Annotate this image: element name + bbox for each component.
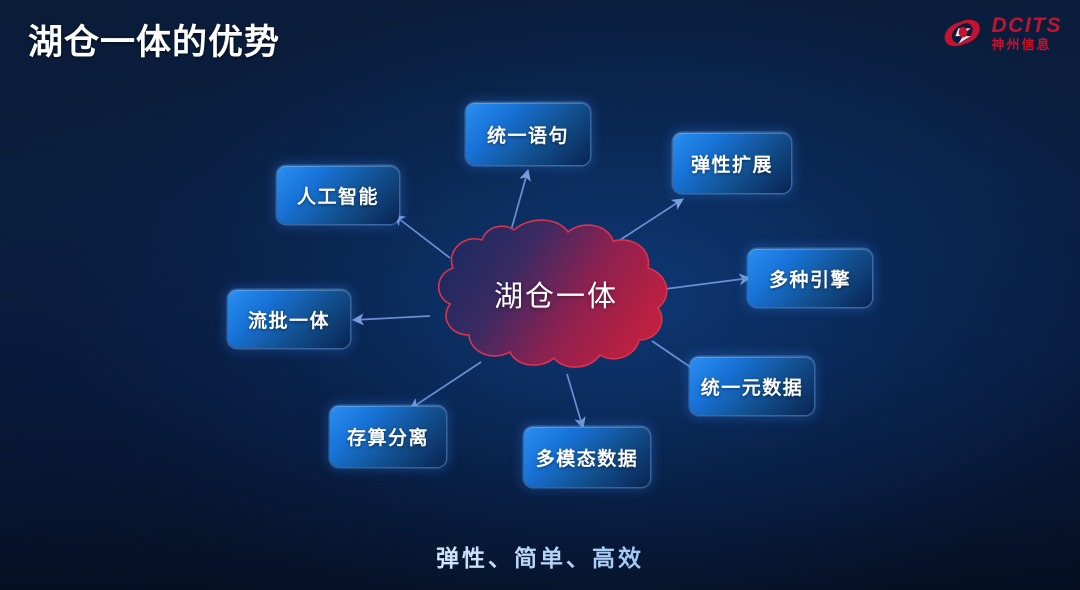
node-unified-metadata[interactable]: 统一元数据 [690, 357, 814, 415]
node-stream-batch-integration[interactable]: 流批一体 [228, 290, 350, 348]
logo-chinese-text: 神州信息 [992, 38, 1063, 51]
node-label: 统一语句 [487, 121, 569, 148]
footer-caption: 弹性、简单、高效 [0, 539, 1080, 573]
node-artificial-intelligence[interactable]: 人工智能 [277, 166, 399, 224]
node-label: 存算分离 [347, 423, 429, 450]
node-elastic-scaling[interactable]: 弹性扩展 [673, 133, 791, 193]
node-label: 多种引擎 [769, 265, 851, 292]
node-multimodal-data[interactable]: 多模态数据 [524, 427, 650, 487]
node-label: 人工智能 [297, 182, 379, 209]
node-storage-compute-separation[interactable]: 存算分离 [330, 406, 446, 467]
logo-english-text: DCITS [992, 15, 1063, 36]
node-multiple-engines[interactable]: 多种引擎 [748, 249, 872, 307]
slide-canvas: 湖仓一体的优势 DCITS 神州信息 [0, 0, 1080, 590]
cloud-label: 湖仓一体 [418, 214, 680, 374]
company-logo: DCITS 神州信息 [940, 10, 1063, 56]
node-label: 弹性扩展 [691, 150, 773, 177]
node-label: 统一元数据 [701, 373, 804, 400]
dcits-swirl-logo-icon [940, 13, 986, 53]
node-label: 流批一体 [248, 306, 330, 333]
node-label: 多模态数据 [536, 444, 639, 471]
node-unified-syntax[interactable]: 统一语句 [466, 103, 590, 165]
page-title: 湖仓一体的优势 [28, 14, 280, 65]
logo-wordmark: DCITS 神州信息 [992, 15, 1063, 51]
arrow-to-multimodal-data [567, 374, 583, 428]
center-cloud: 湖仓一体 [418, 214, 680, 374]
